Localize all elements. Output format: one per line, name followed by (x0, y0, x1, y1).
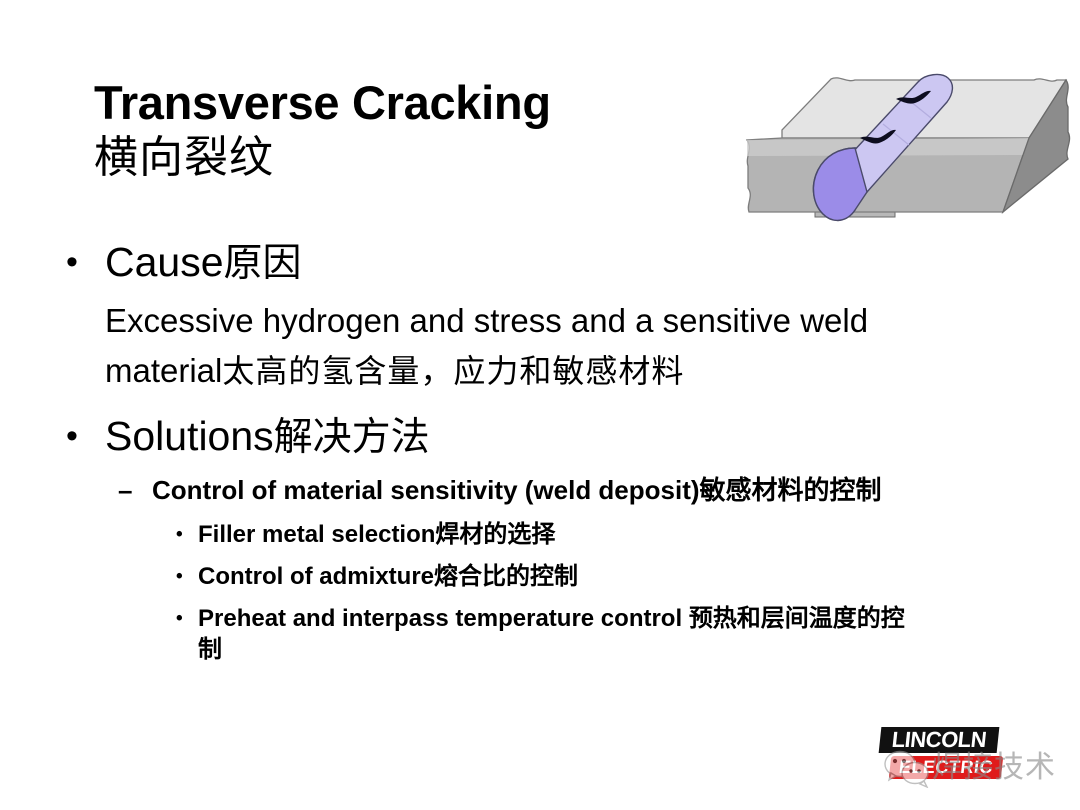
bullet-level3-preheat-interpass: • Preheat and interpass temperature cont… (0, 603, 1010, 665)
slide-body: • Cause原因 Excessive hydrogen and stress … (0, 236, 1010, 665)
bullet-dot-icon: • (66, 236, 78, 288)
title-english: Transverse Cracking (94, 76, 714, 130)
dash-marker-icon: – (118, 474, 132, 507)
logo-line-lincoln: LINCOLN (879, 727, 1000, 753)
bullet-dot-icon: • (176, 519, 183, 550)
cause-heading-cn: 原因 (224, 241, 302, 286)
solutions-heading-cn: 解决方法 (274, 415, 430, 460)
slide-canvas: Transverse Cracking 横向裂纹 (0, 0, 1080, 810)
title-chinese: 横向裂纹 (94, 130, 714, 186)
filler-metal-en: Filler metal selection (198, 521, 435, 548)
bullet-level3-filler-metal: • Filler metal selection焊材的选择 (0, 519, 1010, 550)
bullet-level3-admixture: • Control of admixture熔合比的控制 (0, 561, 1010, 592)
bullet-dot-icon: • (176, 561, 183, 592)
weld-plate-illustration (735, 52, 1080, 237)
bullet-level2-material-sensitivity: – Control of material sensitivity (weld … (0, 474, 1010, 508)
admixture-cn: 熔合比的控制 (434, 562, 578, 590)
filler-metal-cn: 焊材的选择 (435, 520, 555, 548)
cause-heading-en: Cause (105, 239, 224, 285)
logo-line-electric: ELECTRIC (889, 756, 1003, 779)
bullet-dot-icon: • (66, 410, 78, 462)
material-sensitivity-en: Control of material sensitivity (weld de… (152, 475, 700, 505)
material-sensitivity-cn: 敏感材料的控制 (700, 476, 882, 506)
bullet-dot-icon: • (176, 603, 183, 634)
cause-paragraph-cn: 太高的氢含量，应力和敏感材料 (222, 352, 684, 390)
lincoln-electric-logo: LINCOLN ELECTRIC (880, 727, 1000, 785)
admixture-en: Control of admixture (198, 563, 434, 590)
bullet-level1-cause: • Cause原因 (0, 236, 1010, 290)
slide-title: Transverse Cracking 横向裂纹 (94, 76, 714, 186)
solutions-heading-en: Solutions (105, 413, 274, 459)
bullet-level1-solutions: • Solutions解决方法 (0, 410, 1010, 464)
preheat-interpass-en: Preheat and interpass temperature contro… (198, 605, 689, 632)
cause-paragraph: Excessive hydrogen and stress and a sens… (0, 296, 1010, 396)
